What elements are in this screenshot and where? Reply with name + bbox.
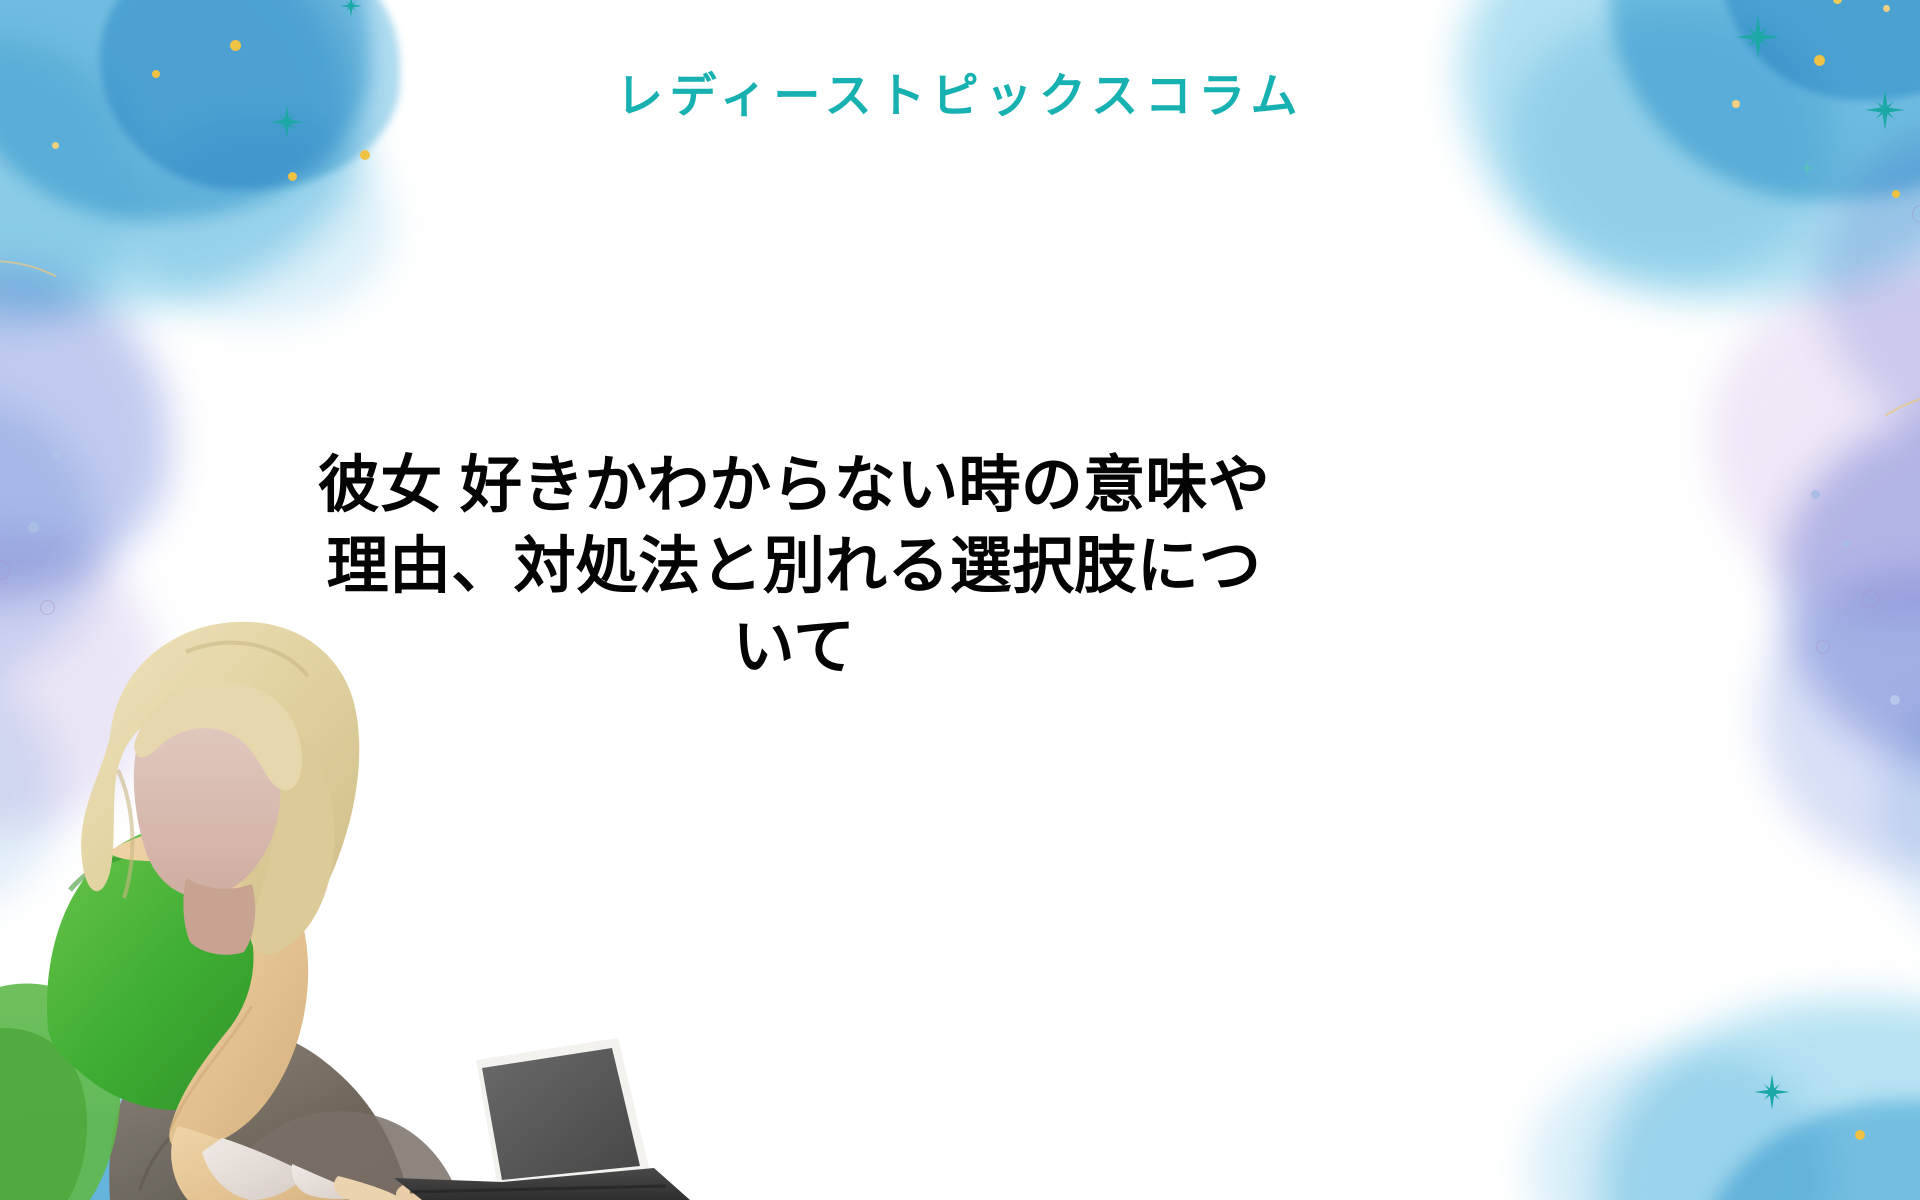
watercolor-decoration-top-left: [0, 0, 560, 460]
eyecatch-canvas: レディーストピックスコラム 彼女 好きかわからない時の意味や 理由、対処法と別れ…: [0, 0, 1920, 1200]
illustration-woman-with-laptop: [0, 560, 710, 1200]
page-kicker-label: レディーストピックスコラム: [0, 70, 1920, 122]
watercolor-decoration-bottom-right: [1400, 770, 1920, 1200]
page-title-line-1: 彼女 好きかわからない時の意味や: [288, 445, 1300, 526]
watercolor-decoration-right-middle: [1510, 240, 1920, 1000]
illustration-neck: [183, 878, 255, 955]
